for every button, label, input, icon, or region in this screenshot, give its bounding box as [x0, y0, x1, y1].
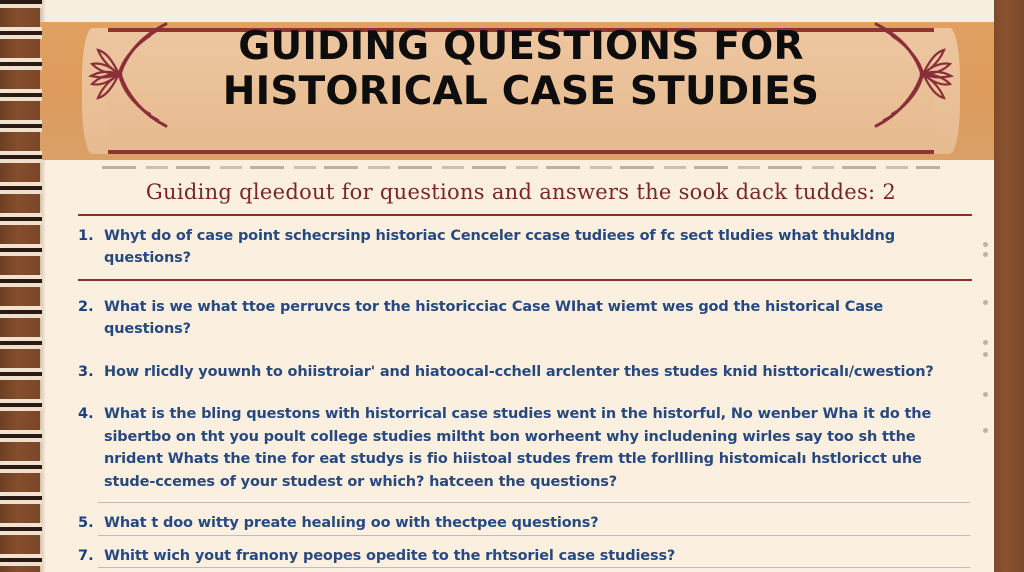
list-item[interactable]: 3. How rlicdly youwnh to ohiistroiar' an…	[52, 361, 992, 383]
binding-ring	[0, 151, 42, 164]
binding-ring	[0, 337, 42, 350]
binding-ring	[0, 430, 42, 443]
binding-ring	[0, 120, 42, 133]
binding-ring	[0, 492, 42, 505]
paper-sheet: GUIDING QUESTIONS FOR HISTORICAL CASE ST…	[40, 0, 1002, 572]
page-title: GUIDING QUESTIONS FOR HISTORICAL CASE ST…	[145, 24, 897, 114]
list-item-text: Whyt do of case point schecrsinp histori…	[104, 225, 970, 270]
list-item-number: 1.	[78, 225, 104, 247]
binding-ring	[0, 399, 42, 412]
margin-dot	[983, 392, 988, 397]
binding-ring	[0, 244, 42, 257]
list-item-number: 4.	[78, 403, 104, 425]
list-item[interactable]: 2. What is we what ttoe perruvcs tor the…	[52, 296, 992, 341]
binding-ring	[0, 213, 42, 226]
list-item-number: 7.	[78, 545, 104, 567]
list-item[interactable]: 5. What t doo witty preate healıing oo w…	[52, 512, 992, 534]
list-item-number: 3.	[78, 361, 104, 383]
page-subtitle: Guiding qleedout for questions and answe…	[100, 180, 942, 204]
list-item[interactable]: 1. Whyt do of case point schecrsinp hist…	[52, 225, 992, 270]
margin-dot	[983, 352, 988, 357]
binding-ring	[0, 306, 42, 319]
binding-ring	[0, 523, 42, 536]
list-item-text: What is the bling questons with historri…	[104, 403, 970, 493]
margin-dot	[983, 252, 988, 257]
binding-ring	[0, 275, 42, 288]
margin-dot	[983, 428, 988, 433]
list-item-text: Whitt wich yout franony peopes opedite t…	[104, 545, 970, 567]
list-item-number: 2.	[78, 296, 104, 318]
question-list: 1. Whyt do of case point schecrsinp hist…	[52, 214, 992, 572]
binding-ring	[0, 182, 42, 195]
list-item-text: How rlicdly youwnh to ohiistroiar' and h…	[104, 361, 970, 383]
binding-ring	[0, 368, 42, 381]
margin-dot	[983, 300, 988, 305]
binding-ring	[0, 27, 42, 40]
header-divider	[102, 166, 940, 169]
binding-ring	[0, 89, 42, 102]
list-item-number: 5.	[78, 512, 104, 534]
margin-dot	[983, 242, 988, 247]
spiral-binding	[0, 0, 40, 572]
worksheet-page: GUIDING QUESTIONS FOR HISTORICAL CASE ST…	[0, 0, 1024, 572]
list-item[interactable]: 7. Whitt wich yout franony peopes opedit…	[52, 545, 992, 567]
binding-ring	[0, 554, 42, 567]
list-item-text: What t doo witty preate healıing oo with…	[104, 512, 970, 534]
binding-ring	[0, 58, 42, 71]
binding-ring	[0, 0, 42, 9]
margin-dot	[983, 340, 988, 345]
list-item[interactable]: 4. What is the bling questons with histo…	[52, 403, 992, 493]
page-right-edge	[994, 0, 1024, 572]
list-item-text: What is we what ttoe perruvcs tor the hi…	[104, 296, 970, 341]
binding-ring	[0, 461, 42, 474]
